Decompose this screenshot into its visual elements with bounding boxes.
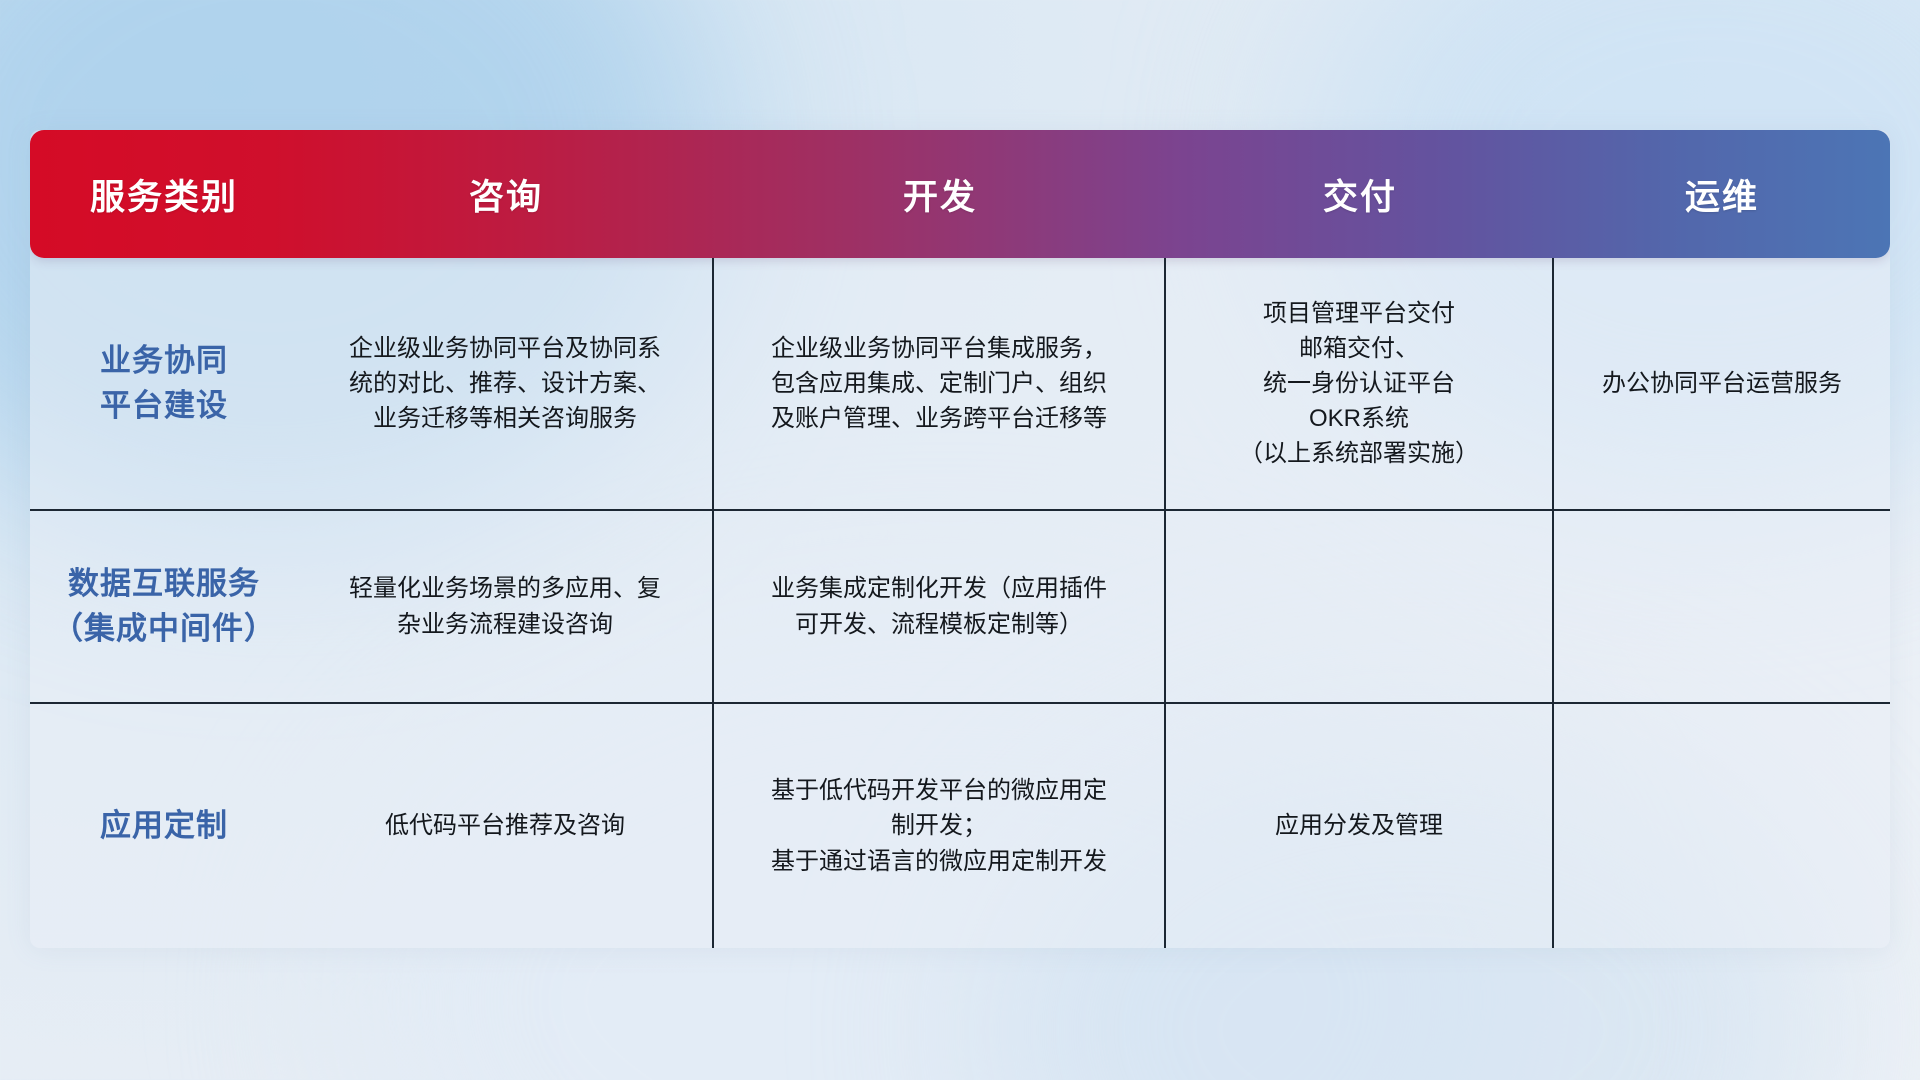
service-matrix-table: 服务类别 咨询 开发 交付 运维 业务协同 平台建设 企业级业务协同平台及协同系… (30, 130, 1890, 948)
table-row: 业务协同 平台建设 企业级业务协同平台及协同系 统的对比、推荐、设计方案、 业务… (30, 258, 1890, 511)
table-body: 业务协同 平台建设 企业级业务协同平台及协同系 统的对比、推荐、设计方案、 业务… (30, 258, 1890, 948)
cell-consult: 低代码平台推荐及咨询 (298, 704, 714, 948)
table-row: 数据互联服务 （集成中间件） 轻量化业务场景的多应用、复 杂业务流程建设咨询 业… (30, 511, 1890, 704)
column-header-consult: 咨询 (298, 130, 714, 258)
column-header-develop: 开发 (714, 130, 1166, 258)
cell-develop: 业务集成定制化开发（应用插件 可开发、流程模板定制等） (714, 511, 1166, 702)
cell-deliver (1166, 511, 1554, 702)
cell-consult: 轻量化业务场景的多应用、复 杂业务流程建设咨询 (298, 511, 714, 702)
cell-develop: 企业级业务协同平台集成服务， 包含应用集成、定制门户、组织 及账户管理、业务跨平… (714, 258, 1166, 509)
column-header-consult-label: 咨询 (469, 169, 543, 220)
column-header-category: 服务类别 (30, 130, 298, 258)
column-header-operate: 运维 (1554, 130, 1890, 258)
column-header-deliver: 交付 (1166, 130, 1554, 258)
row-category-cell: 应用定制 (30, 704, 298, 948)
row-category-cell: 业务协同 平台建设 (30, 258, 298, 509)
row-category-label: 业务协同 平台建设 (100, 339, 228, 427)
cell-operate (1554, 511, 1890, 702)
table-row: 应用定制 低代码平台推荐及咨询 基于低代码开发平台的微应用定 制开发； 基于通过… (30, 704, 1890, 948)
column-header-develop-label: 开发 (903, 169, 977, 220)
cell-deliver: 项目管理平台交付 邮箱交付、 统一身份认证平台 OKR系统 （以上系统部署实施） (1166, 258, 1554, 509)
column-header-deliver-label: 交付 (1323, 169, 1397, 220)
row-category-label: 数据互联服务 （集成中间件） (52, 562, 276, 650)
column-header-category-label: 服务类别 (90, 169, 238, 220)
cell-operate (1554, 704, 1890, 948)
row-category-label: 应用定制 (100, 804, 228, 848)
cell-deliver: 应用分发及管理 (1166, 704, 1554, 948)
column-header-operate-label: 运维 (1685, 169, 1759, 220)
cell-consult: 企业级业务协同平台及协同系 统的对比、推荐、设计方案、 业务迁移等相关咨询服务 (298, 258, 714, 509)
table-header-row: 服务类别 咨询 开发 交付 运维 (30, 130, 1890, 258)
row-category-cell: 数据互联服务 （集成中间件） (30, 511, 298, 702)
cell-operate: 办公协同平台运营服务 (1554, 258, 1890, 509)
cell-develop: 基于低代码开发平台的微应用定 制开发； 基于通过语言的微应用定制开发 (714, 704, 1166, 948)
